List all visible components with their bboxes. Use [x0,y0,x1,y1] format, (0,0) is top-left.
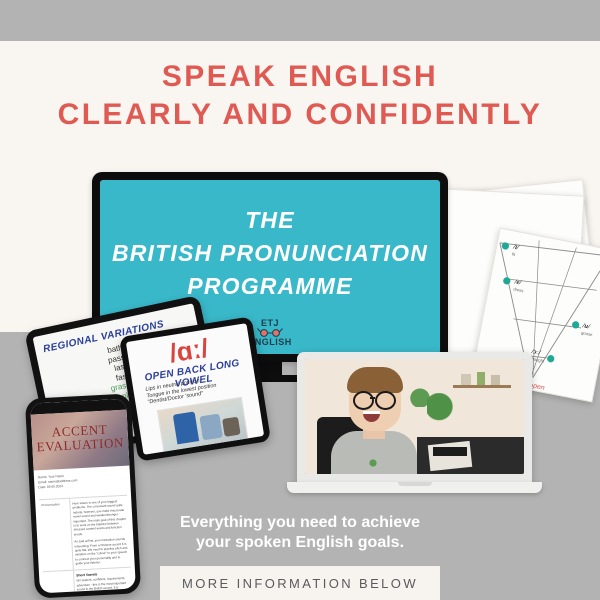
photo-figure [173,411,199,444]
table-row: Short Vowels /æ/ student, confident, req… [43,567,134,593]
footer-line-1: Everything you need to achieve [0,513,600,533]
video-shelf-item [491,375,500,385]
laptop-lid [297,352,532,486]
video-cushion [433,447,467,456]
video-shelf-item [461,374,471,385]
svg-text:fit: fit [512,251,517,257]
plant-icon [427,393,457,427]
video-shelf [453,385,511,388]
svg-text:dress: dress [513,286,524,293]
phone-accent-evaluation: ACCENT EVALUATION Name: Your Name Email:… [25,393,141,598]
row-body: /æ/ student, confident, requirements, ad… [76,576,129,593]
svg-text:goose: goose [581,330,594,337]
course-title-line-2: BRITISH PRONUNCIATION [100,237,440,270]
row-content: Short Vowels /æ/ student, confident, req… [74,567,134,593]
video-shelf-item [477,372,485,385]
shirt-logo-icon [367,457,379,469]
eyeglasses-bridge [370,397,375,399]
promo-graphic: Speak English Clearly and Confidently [0,0,600,600]
svg-text:/i/: /i/ [512,243,521,251]
cta-label: MORE INFORMATION BELOW [182,576,418,591]
more-information-button[interactable]: MORE INFORMATION BELOW [160,566,440,600]
video-cushion [428,441,472,471]
footer-line-2: your spoken English goals. [0,533,600,553]
instructor-teeth [363,411,380,414]
row-label [43,570,77,593]
eyeglasses-icon [353,391,374,410]
phone-notch [61,400,95,411]
laptop-video [287,352,542,500]
instructor-hair [347,367,403,393]
footer-subtitle: Everything you need to achieve your spok… [0,513,600,553]
tablet-vowel-lesson: /ɑː/ OPEN BACK LONG VOWEL Lips in neutra… [119,316,271,461]
laptop-notch [398,482,432,486]
eyeglasses-icon [375,391,396,410]
lesson-photo [157,397,249,455]
laptop-screen [305,359,524,474]
accent-evaluation-header: ACCENT EVALUATION [31,410,130,471]
course-title-line-3: PROGRAMME [100,270,440,303]
accent-evaluation-title: ACCENT EVALUATION [31,422,128,455]
course-title-line-1: THE [100,204,440,237]
page-title: Speak English Clearly and Confidently [0,58,600,134]
instructor-video [305,359,524,474]
course-title: THE BRITISH PRONUNCIATION PROGRAMME [100,204,440,303]
accent-title-line-2: EVALUATION [32,436,129,455]
phone-screen: ACCENT EVALUATION Name: Your Name Email:… [30,399,136,594]
photo-figure [199,414,223,441]
evaluation-meta: Name: Your Name Email: name@address.com … [38,471,127,491]
tablet-vowel-screen: /ɑː/ OPEN BACK LONG VOWEL Lips in neutra… [126,323,264,455]
photo-figure [222,417,241,437]
headline-line-2: Clearly and Confidently [0,96,600,134]
headline-line-1: Speak English [162,60,438,93]
